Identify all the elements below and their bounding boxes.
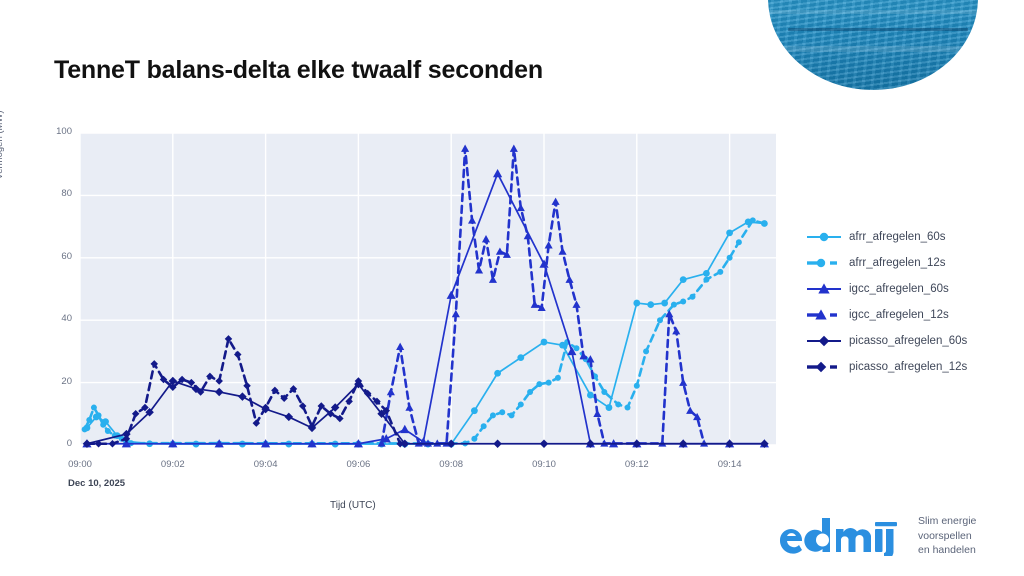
legend-label: picasso_afregelen_60s bbox=[849, 335, 967, 347]
x-tick-09-06: 09:06 bbox=[323, 459, 393, 470]
legend-item-igcc_afregelen_60s[interactable]: igcc_afregelen_60s bbox=[806, 276, 1024, 302]
legend-marker-icon bbox=[806, 307, 842, 323]
legend-label: picasso_afregelen_12s bbox=[849, 361, 967, 373]
chart-legend: afrr_afregelen_60safrr_afregelen_12sigcc… bbox=[806, 224, 1024, 380]
legend-item-afrr_afregelen_12s[interactable]: afrr_afregelen_12s bbox=[806, 250, 1024, 276]
legend-marker-icon bbox=[806, 359, 842, 375]
legend-label: afrr_afregelen_12s bbox=[849, 257, 946, 269]
y-tick-20: 20 bbox=[32, 376, 72, 387]
tagline-line-2: voorspellen bbox=[918, 529, 1024, 544]
x-tick-09-14: 09:14 bbox=[695, 459, 765, 470]
x-tick-09-08: 09:08 bbox=[416, 459, 486, 470]
legend-marker-icon bbox=[806, 255, 842, 271]
legend-item-igcc_afregelen_12s[interactable]: igcc_afregelen_12s bbox=[806, 302, 1024, 328]
slide-canvas: TenneT balans-delta elke twaalf seconden… bbox=[0, 0, 1024, 576]
series-picasso_afregelen_12s bbox=[83, 335, 404, 447]
tagline-line-3: en handelen bbox=[918, 543, 1024, 558]
legend-label: igcc_afregelen_12s bbox=[849, 309, 949, 321]
y-tick-0: 0 bbox=[32, 438, 72, 449]
edmij-wordmark-icon bbox=[778, 512, 902, 556]
y-tick-40: 40 bbox=[32, 313, 72, 324]
legend-marker-icon bbox=[806, 333, 842, 349]
legend-marker-icon bbox=[806, 229, 842, 245]
x-axis-date-label: Dec 10, 2025 bbox=[68, 478, 125, 489]
x-tick-09-02: 09:02 bbox=[138, 459, 208, 470]
x-tick-09-04: 09:04 bbox=[231, 459, 301, 470]
x-axis-label: Tijd (UTC) bbox=[330, 500, 530, 511]
x-tick-09-10: 09:10 bbox=[509, 459, 579, 470]
plot-series-layer bbox=[80, 133, 776, 445]
x-tick-09-00: 09:00 bbox=[45, 459, 115, 470]
legend-item-picasso_afregelen_12s[interactable]: picasso_afregelen_12s bbox=[806, 354, 1024, 380]
series-igcc_afregelen_60s bbox=[82, 169, 769, 447]
brand-logo: Slim energie voorspellen en handelen bbox=[778, 510, 1024, 572]
legend-label: igcc_afregelen_60s bbox=[849, 283, 949, 295]
legend-item-afrr_afregelen_60s[interactable]: afrr_afregelen_60s bbox=[806, 224, 1024, 250]
y-tick-80: 80 bbox=[32, 188, 72, 199]
series-igcc_afregelen_12s bbox=[378, 145, 709, 447]
brand-tagline: Slim energie voorspellen en handelen bbox=[918, 514, 1024, 558]
legend-item-picasso_afregelen_60s[interactable]: picasso_afregelen_60s bbox=[806, 328, 1024, 354]
y-axis-label: Vermogen (MW) bbox=[0, 65, 5, 225]
y-tick-100: 100 bbox=[32, 126, 72, 137]
legend-label: afrr_afregelen_60s bbox=[849, 231, 946, 243]
tagline-line-1: Slim energie bbox=[918, 514, 1024, 529]
x-tick-09-12: 09:12 bbox=[602, 459, 672, 470]
y-tick-60: 60 bbox=[32, 251, 72, 262]
legend-marker-icon bbox=[806, 281, 842, 297]
